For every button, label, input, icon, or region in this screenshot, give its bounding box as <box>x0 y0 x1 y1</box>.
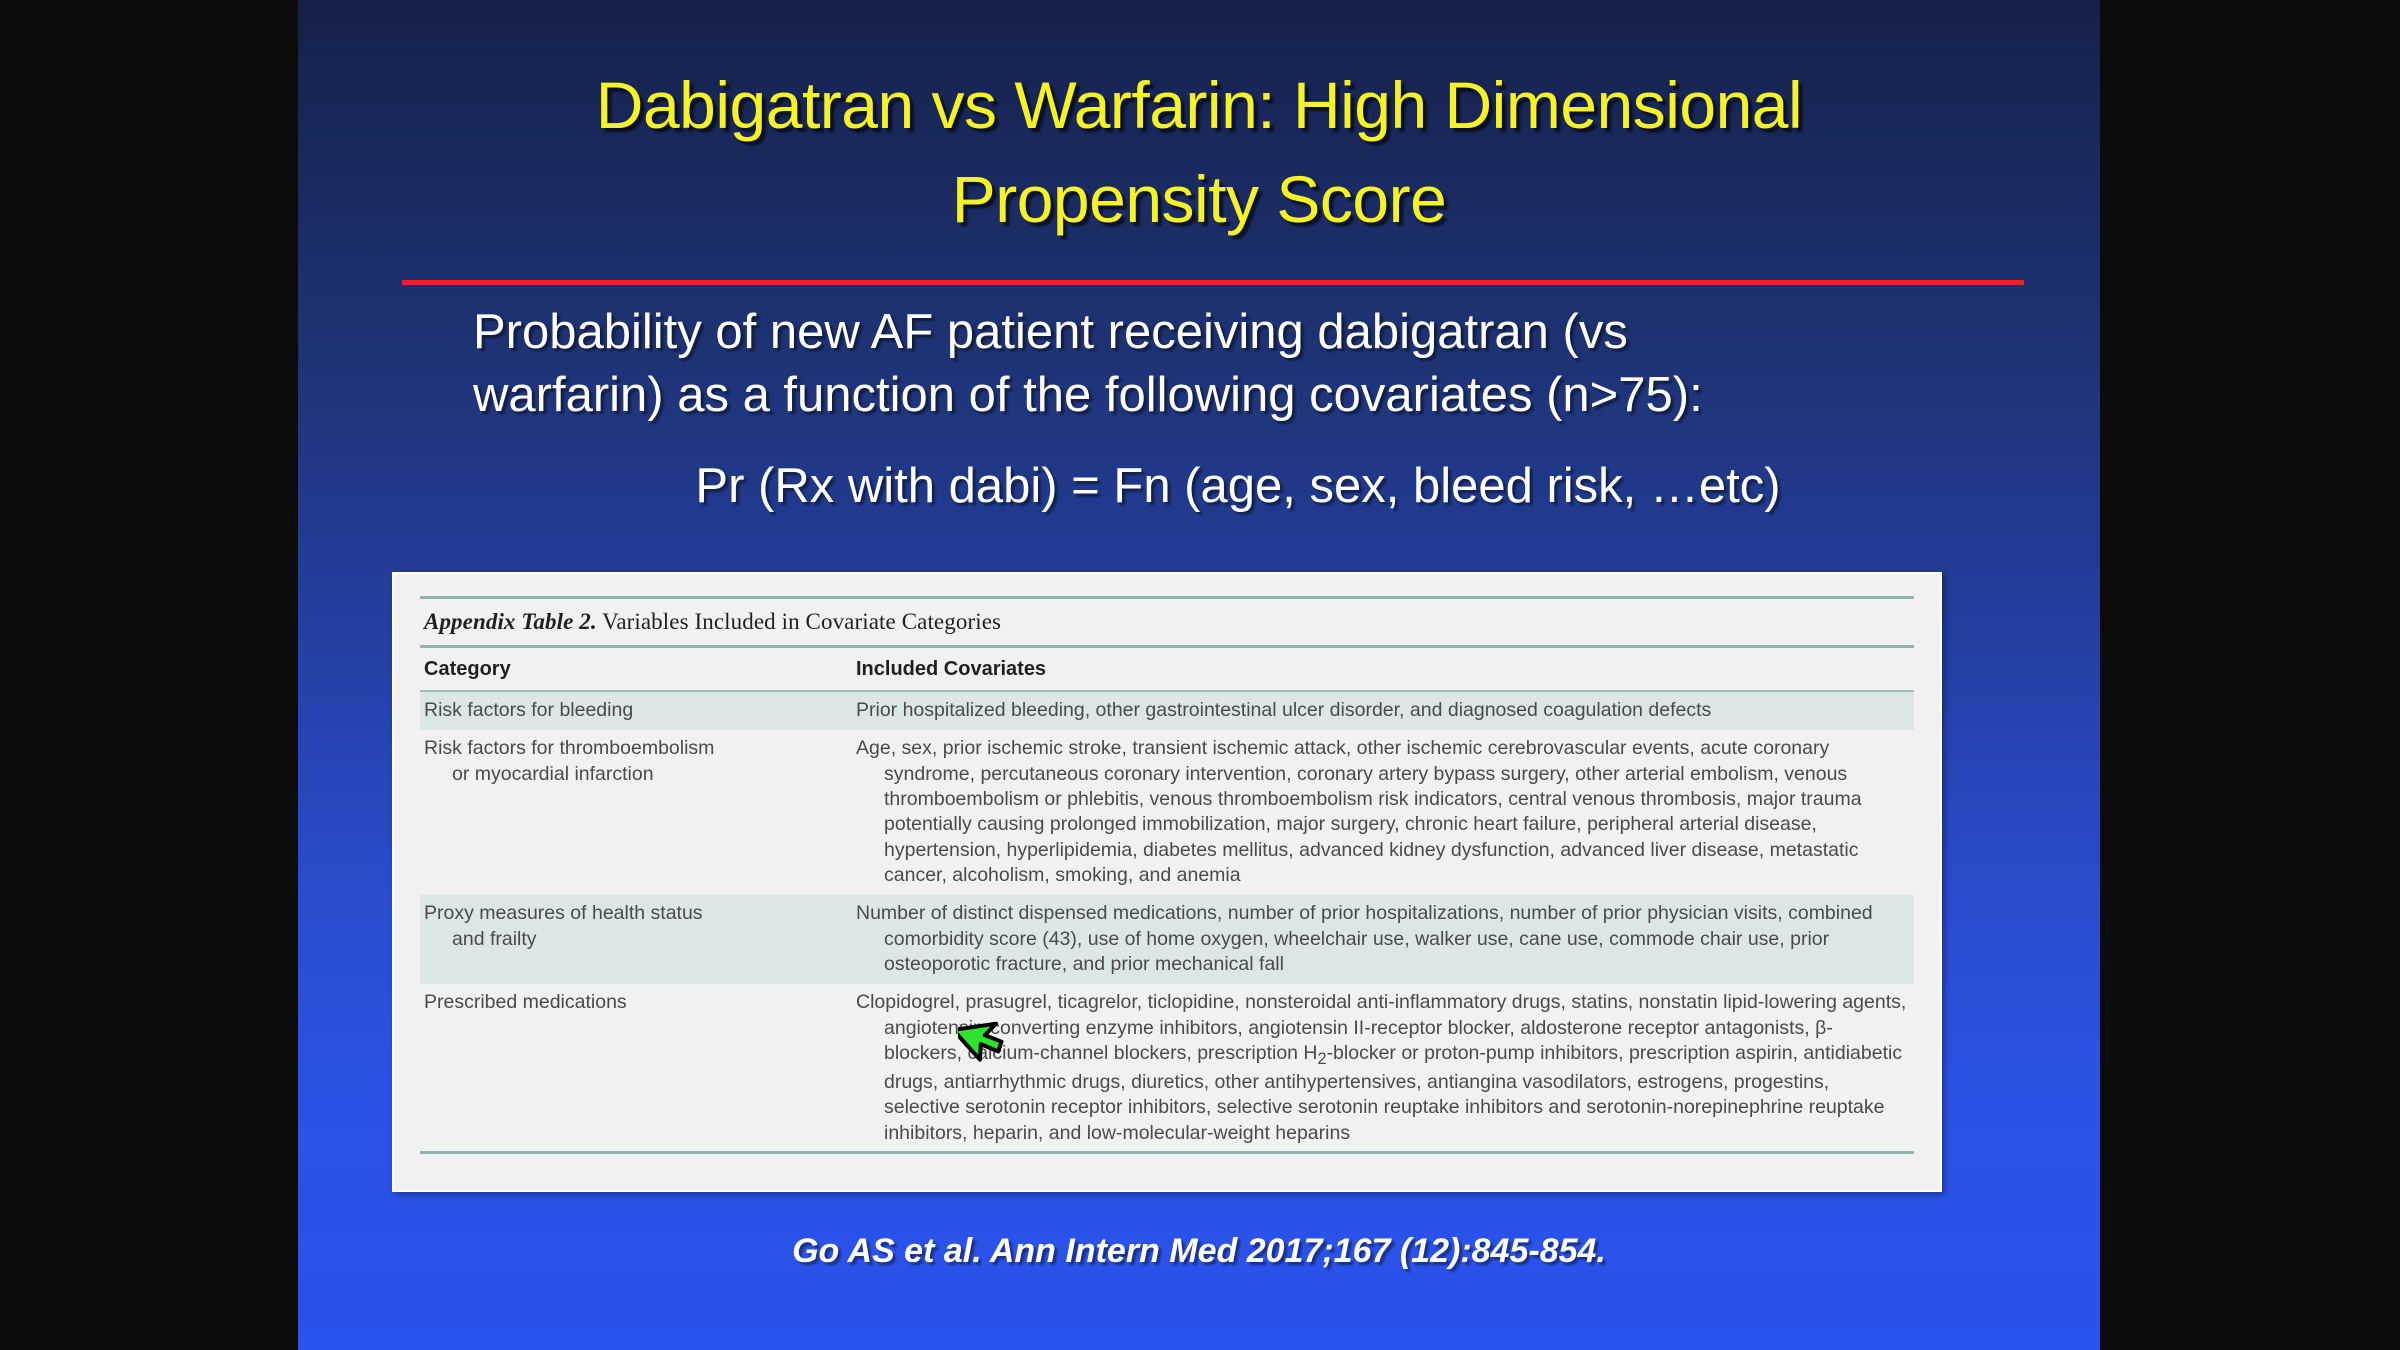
propensity-formula: Pr (Rx with dabi) = Fn (age, sex, bleed … <box>418 462 1998 511</box>
table-row: Prescribed medications Clopidogrel, pras… <box>420 984 1914 1153</box>
row-category: Proxy measures of health status and frai… <box>424 901 856 977</box>
row-category-text: Prescribed medications <box>424 990 856 1015</box>
presentation-slide: Dabigatran vs Warfarin: High Dimensional… <box>298 0 2100 1350</box>
table-row: Risk factors for thromboembolism or myoc… <box>420 730 1914 895</box>
row-category-text-cont: or myocardial infarction <box>424 762 856 787</box>
slide-body-text: Probability of new AF patient receiving … <box>418 308 1998 511</box>
row-category: Risk factors for thromboembolism or myoc… <box>424 736 856 888</box>
row-covariates-text: Prior hospitalized bleeding, other gastr… <box>856 698 1910 723</box>
slide-title-line-2: Propensity Score <box>358 166 2040 232</box>
table-caption-label: Appendix Table 2. <box>424 609 597 634</box>
body-line-2: warfarin) as a function of the following… <box>473 371 1988 420</box>
table-row: Risk factors for bleeding Prior hospital… <box>420 692 1914 730</box>
row-covariates-subscript: 2 <box>1318 1050 1327 1068</box>
row-covariates-text: Number of distinct dispensed medications… <box>856 901 1910 977</box>
table-caption-text: Variables Included in Covariate Categori… <box>597 609 1001 634</box>
row-category: Prescribed medications <box>424 990 856 1146</box>
title-divider-rule <box>402 280 2024 285</box>
row-covariates-text: Clopidogrel, prasugrel, ticagrelor, ticl… <box>856 990 1910 1146</box>
screen-letterbox: Dabigatran vs Warfarin: High Dimensional… <box>0 0 2400 1350</box>
appendix-table: Appendix Table 2. Variables Included in … <box>420 596 1914 1153</box>
table-caption: Appendix Table 2. Variables Included in … <box>420 599 1914 645</box>
row-category-text: Risk factors for bleeding <box>424 698 856 723</box>
body-line-1: Probability of new AF patient receiving … <box>473 305 1628 359</box>
table-row: Proxy measures of health status and frai… <box>420 895 1914 984</box>
row-covariates: Number of distinct dispensed medications… <box>856 901 1910 977</box>
appendix-table-figure: Appendix Table 2. Variables Included in … <box>392 572 1942 1192</box>
slide-title: Dabigatran vs Warfarin: High Dimensional… <box>358 72 2040 232</box>
slide-title-line-1: Dabigatran vs Warfarin: High Dimensional <box>596 68 1802 142</box>
row-covariates: Clopidogrel, prasugrel, ticagrelor, ticl… <box>856 990 1910 1146</box>
slide-citation: Go AS et al. Ann Intern Med 2017;167 (12… <box>298 1232 2100 1271</box>
table-bottom-rule <box>420 1151 1914 1154</box>
row-covariates-text: Age, sex, prior ischemic stroke, transie… <box>856 736 1910 888</box>
row-category-text: Proxy measures of health status <box>424 901 856 926</box>
row-category: Risk factors for bleeding <box>424 698 856 723</box>
row-covariates: Prior hospitalized bleeding, other gastr… <box>856 698 1910 723</box>
row-category-text: Risk factors for thromboembolism <box>424 736 856 761</box>
row-covariates: Age, sex, prior ischemic stroke, transie… <box>856 736 1910 888</box>
column-header-category: Category <box>424 658 856 681</box>
table-column-headers: Category Included Covariates <box>420 648 1914 690</box>
row-category-text-cont: and frailty <box>424 927 856 952</box>
column-header-covariates: Included Covariates <box>856 658 1910 681</box>
body-paragraph: Probability of new AF patient receiving … <box>418 308 1998 420</box>
